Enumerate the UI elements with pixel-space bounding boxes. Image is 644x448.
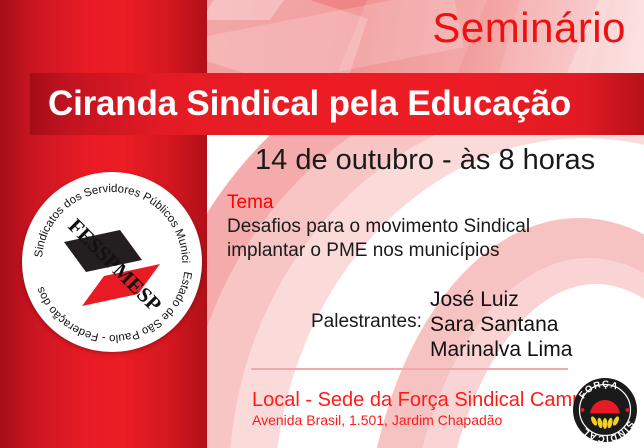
venue-name: Local - Sede da Força Sindical Campinas [252,389,620,412]
speaker-name: José Luiz [430,288,519,312]
fesspmesp-logo: Sindicatos dos Servidores Públicos Munic… [22,172,202,352]
forca-sindical-logo: FORÇA SINDICAL [570,375,640,445]
venue-address: Avenida Brasil, 1.501, Jardim Chapadão [252,412,502,428]
speaker-name: Sara Santana [430,313,558,337]
event-date: 14 de outubro - às 8 horas [255,144,595,177]
background-pink-panel: Seminário [207,0,644,73]
seminar-poster: Seminário Ciranda Sindical pela Educação… [0,0,644,448]
theme-line-1: Desafios para o movimento Sindical [227,216,530,238]
theme-label: Tema [227,192,273,214]
forca-sindical-logo-icon: FORÇA SINDICAL [570,375,640,445]
fesspmesp-acronym: FESSPMESP [64,214,167,317]
theme-line-2: implantar o PME nos municípios [227,240,499,262]
fesspmesp-logo-icon: Sindicatos dos Servidores Públicos Munic… [22,172,202,352]
footer-divider [251,368,568,370]
speaker-name: Marinalva Lima [430,338,572,362]
speakers-label: Palestrantes: [311,311,422,333]
page-title: Ciranda Sindical pela Educação [48,73,644,135]
kicker-seminario: Seminário [432,4,626,52]
